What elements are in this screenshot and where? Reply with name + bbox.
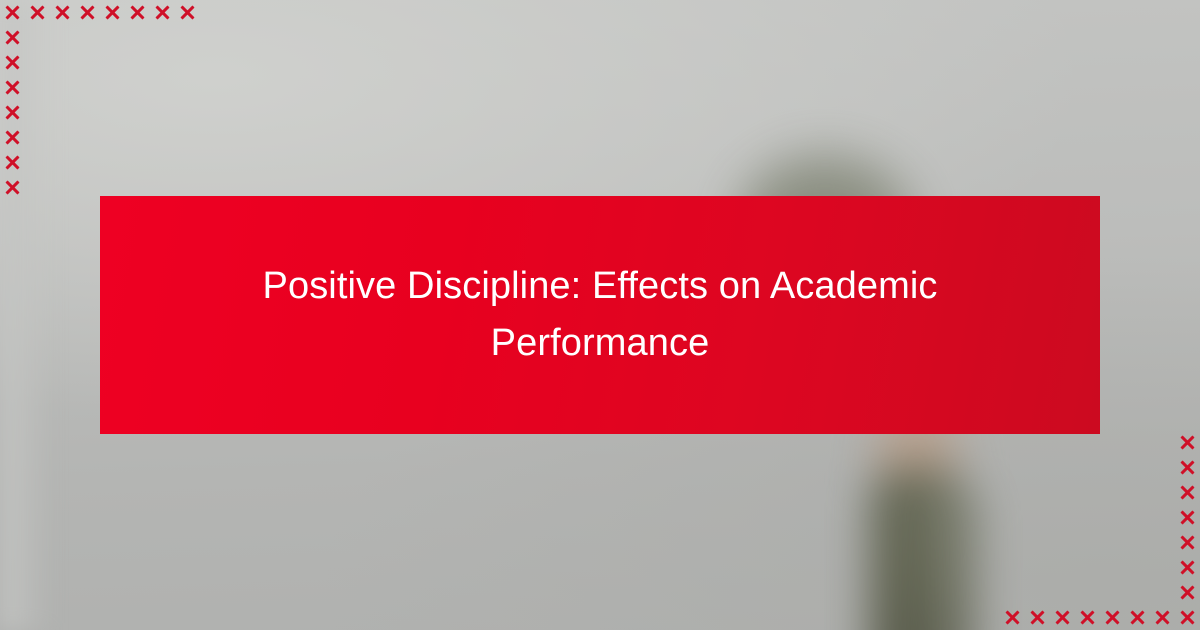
page-title: Positive Discipline: Effects on Academic… xyxy=(250,258,950,372)
figure-torso-shading xyxy=(926,482,978,630)
background-wall-edge xyxy=(0,0,52,630)
title-banner: Positive Discipline: Effects on Academic… xyxy=(100,196,1100,434)
social-share-card: Positive Discipline: Effects on Academic… xyxy=(0,0,1200,630)
